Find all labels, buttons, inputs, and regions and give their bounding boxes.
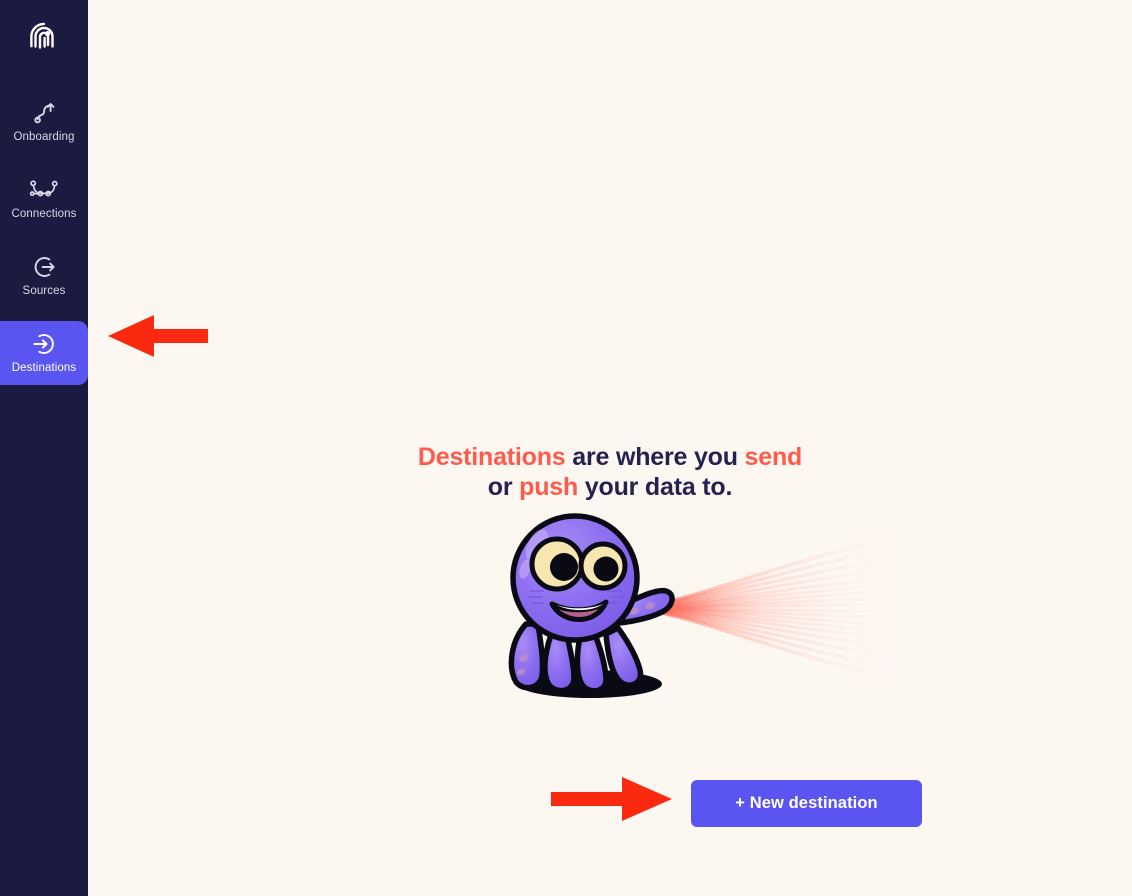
headline-word-push: push	[519, 473, 578, 501]
onboarding-path-icon	[31, 100, 57, 126]
arrow-out-circle-icon	[31, 254, 57, 280]
destinations-empty-state: Destinations are where you sendor push y…	[88, 0, 1132, 896]
mascot-blush	[528, 591, 624, 603]
cta-row: + New destination	[88, 780, 1132, 828]
sidebar-item-connections[interactable]: Connections	[0, 167, 88, 231]
octopus-mascot-illustration	[480, 512, 900, 762]
sidebar-item-label-onboarding: Onboarding	[13, 130, 74, 144]
sidebar-item-label-destinations: Destinations	[12, 361, 76, 375]
rudderstack-logo-icon	[23, 16, 65, 58]
new-destination-button[interactable]: + New destination	[691, 780, 922, 827]
headline-text-1: are where you	[566, 443, 745, 471]
app-root: Onboarding	[0, 0, 1132, 896]
headline-text-3: your data to.	[578, 473, 732, 501]
sidebar-item-label-connections: Connections	[11, 207, 76, 221]
brand-logo[interactable]	[0, 0, 88, 74]
headline-text-2: or	[488, 473, 519, 501]
mascot-gloss	[517, 526, 553, 580]
arrow-in-circle-icon	[31, 331, 57, 357]
main-content: Destinations are where you sendor push y…	[88, 0, 1132, 896]
sidebar-item-destinations[interactable]: Destinations	[0, 321, 88, 385]
mascot-shadow	[518, 670, 662, 698]
data-rays	[584, 534, 900, 682]
mascot-eyes	[532, 539, 625, 589]
headline-word-send: send	[745, 443, 803, 471]
mascot-mouth	[552, 602, 606, 620]
mascot-head	[513, 516, 637, 640]
sidebar-item-label-sources: Sources	[23, 284, 66, 298]
mascot-tentacles	[511, 591, 672, 691]
headline-word-destinations: Destinations	[418, 443, 566, 471]
empty-state-headline: Destinations are where you sendor push y…	[290, 443, 930, 502]
sidebar-item-sources[interactable]: Sources	[0, 244, 88, 308]
sidebar-item-onboarding[interactable]: Onboarding	[0, 90, 88, 154]
connections-graph-icon	[29, 177, 59, 203]
mascot-suckers	[516, 601, 656, 676]
sidebar: Onboarding	[0, 0, 88, 896]
